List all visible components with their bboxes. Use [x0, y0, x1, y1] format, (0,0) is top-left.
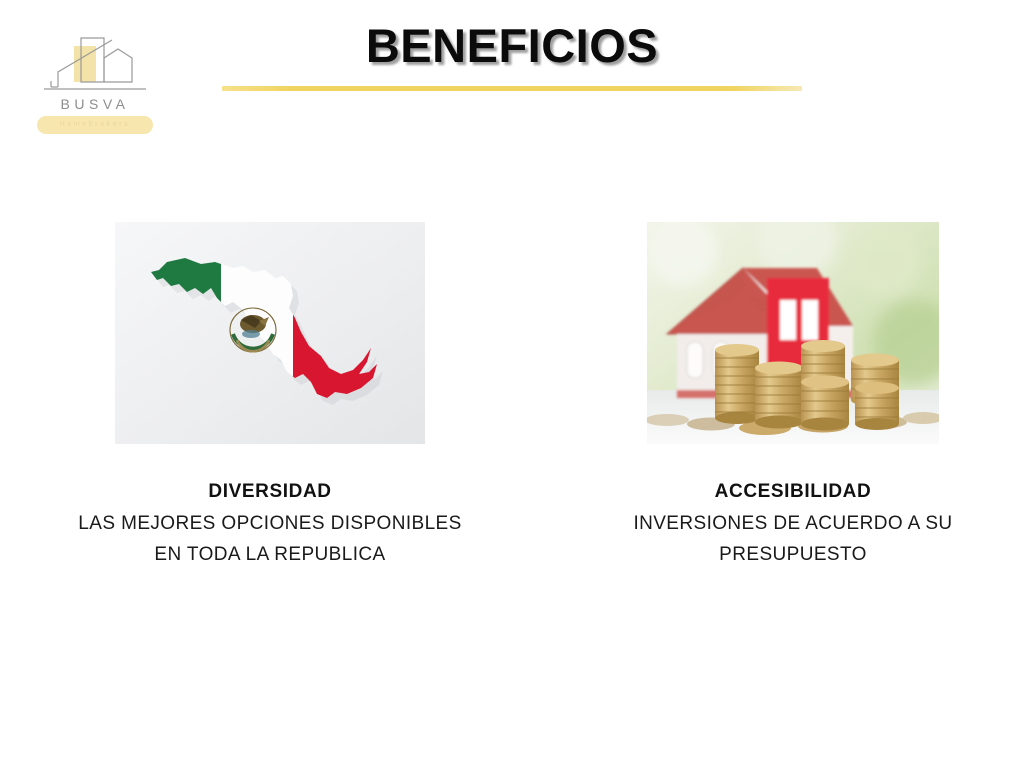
- benefit-body: INVERSIONES DE ACUERDO A SU PRESUPUESTO: [568, 508, 1018, 570]
- logo-tagline-pill: Homebrokers: [37, 116, 153, 134]
- benefit-column-accesibilidad: ACCESIBILIDAD INVERSIONES DE ACUERDO A S…: [568, 222, 1018, 570]
- logo-tagline: Homebrokers: [37, 116, 153, 134]
- page-title: BENEFICIOS: [0, 18, 1024, 73]
- caption-block: DIVERSIDAD LAS MEJORES OPCIONES DISPONIB…: [40, 479, 500, 570]
- benefit-body: LAS MEJORES OPCIONES DISPONIBLES EN TODA…: [40, 508, 500, 570]
- mexico-map-flag-image: [115, 222, 425, 444]
- caption-block: ACCESIBILIDAD INVERSIONES DE ACUERDO A S…: [568, 479, 1018, 570]
- benefit-column-diversidad: DIVERSIDAD LAS MEJORES OPCIONES DISPONIB…: [40, 222, 500, 570]
- house-with-coin-stacks-image: [647, 222, 939, 444]
- benefit-heading: DIVERSIDAD: [40, 479, 500, 505]
- benefit-heading: ACCESIBILIDAD: [568, 479, 1018, 505]
- title-underline-rule: [222, 86, 802, 91]
- logo-wordmark: BUSVA: [34, 96, 156, 112]
